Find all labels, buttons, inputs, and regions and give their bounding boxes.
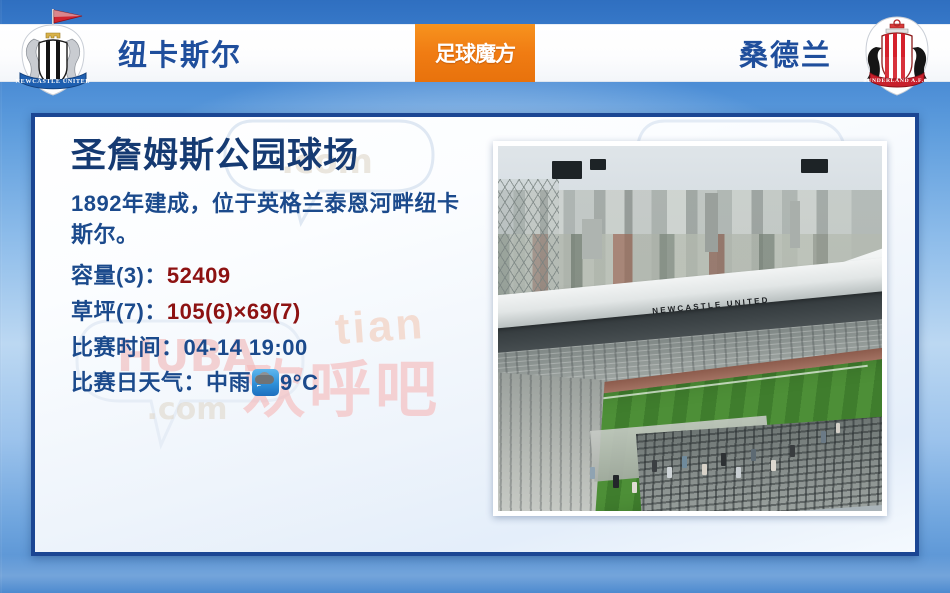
pitch-row: 草坪(7)：105(6)×69(7) <box>71 294 475 330</box>
weather-separator: ： <box>184 370 207 395</box>
match-header-bar: NEWCASTLE UNITED 纽卡斯尔 足球魔方 桑德兰 <box>0 24 950 82</box>
weather-label: 比赛日天气 <box>71 370 184 395</box>
brand-logo-text: 足球魔方 <box>435 38 515 68</box>
svg-text:SUNDERLAND A.F.C.: SUNDERLAND A.F.C. <box>863 78 930 84</box>
stadium-description: 1892年建成，位于英格兰泰恩河畔纽卡斯尔。 <box>71 188 475 252</box>
away-crest-slot: SUNDERLAND A.F.C. <box>844 9 950 97</box>
capacity-separator: ： <box>144 263 167 288</box>
weather-condition: 中雨 <box>206 370 251 395</box>
home-team-name: 纽卡斯尔 <box>106 32 415 74</box>
home-crest-slot: NEWCASTLE UNITED <box>0 9 106 97</box>
svg-text:NEWCASTLE UNITED: NEWCASTLE UNITED <box>16 78 91 85</box>
kickoff-label: 比赛时间 <box>71 335 161 360</box>
newcastle-united-crest: NEWCASTLE UNITED <box>12 9 94 97</box>
footer-glow <box>0 555 950 593</box>
weather-temperature: 9°C <box>280 370 318 395</box>
rain-cloud-icon <box>252 369 279 396</box>
stadium-info-panel: .com .com HUBA .com tian 欢呼吧 圣詹姆斯公园球场 <box>31 113 919 556</box>
brand-logo[interactable]: 足球魔方 <box>415 24 535 82</box>
kickoff-value: 04-14 19:00 <box>184 335 308 360</box>
kickoff-row: 比赛时间：04-14 19:00 <box>71 330 475 366</box>
capacity-row: 容量(3)：52409 <box>71 258 475 294</box>
pitch-value: 105(6)×69(7) <box>167 299 301 324</box>
st-james-park-stadium-photo: NEWCASTLE UNITED <box>498 146 882 511</box>
pitch-separator: ： <box>144 299 167 324</box>
capacity-label: 容量(3) <box>71 263 144 288</box>
away-team-name: 桑德兰 <box>535 32 844 74</box>
capacity-value: 52409 <box>167 263 231 288</box>
sunderland-afc-crest: SUNDERLAND A.F.C. <box>856 9 938 97</box>
kickoff-separator: ： <box>161 335 184 360</box>
weather-row: 比赛日天气：中雨 9°C <box>71 365 475 401</box>
stadium-info-block: 圣詹姆斯公园球场 1892年建成，位于英格兰泰恩河畔纽卡斯尔。 容量(3)：52… <box>71 137 475 401</box>
stadium-photo-frame: NEWCASTLE UNITED <box>493 141 887 516</box>
app-root: NEWCASTLE UNITED 纽卡斯尔 足球魔方 桑德兰 <box>0 0 950 593</box>
pitch-label: 草坪(7) <box>71 299 144 324</box>
stadium-title: 圣詹姆斯公园球场 <box>71 137 475 176</box>
